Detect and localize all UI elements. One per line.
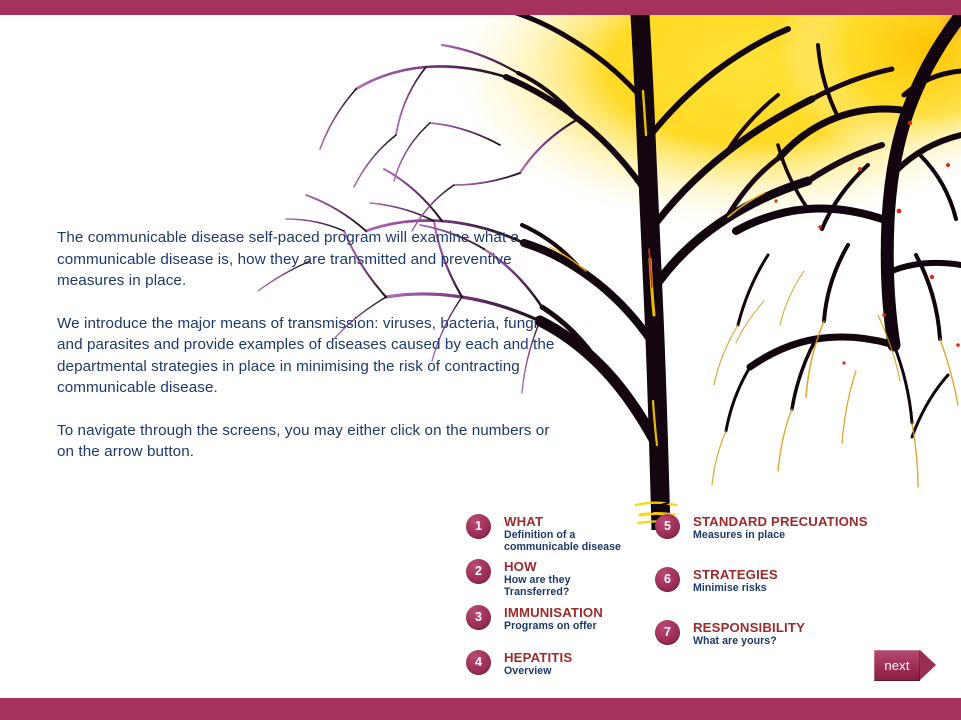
- nav-number-1[interactable]: 1: [466, 514, 491, 539]
- nav-item-hepatitis[interactable]: 4 HEPATITIS Overview: [466, 650, 666, 684]
- next-button-label: next: [874, 650, 920, 681]
- nav-sub-line: Overview: [504, 665, 666, 677]
- nav-number-6[interactable]: 6: [655, 567, 680, 592]
- nav-sub-line: Definition of a: [504, 529, 666, 541]
- intro-paragraph-1: The communicable disease self-paced prog…: [57, 227, 557, 292]
- nav-item-strategies[interactable]: 6 STRATEGIES Minimise risks: [655, 567, 915, 601]
- nav-number-2[interactable]: 2: [466, 559, 491, 584]
- intro-paragraph-3: To navigate through the screens, you may…: [57, 420, 557, 463]
- nav-number-4[interactable]: 4: [466, 650, 491, 675]
- nav-sub-standard-precautions: Measures in place: [693, 529, 915, 541]
- nav-title-immunisation: IMMUNISATION: [504, 605, 666, 620]
- nav-number-3[interactable]: 3: [466, 605, 491, 630]
- nav-sub-line: Minimise risks: [693, 582, 915, 594]
- nav-sub-immunisation: Programs on offer: [504, 620, 666, 632]
- bottom-accent-bar: [0, 698, 961, 720]
- nav-item-standard-precautions[interactable]: 5 STANDARD PRECUATIONS Measures in place: [655, 514, 915, 548]
- nav-title-strategies: STRATEGIES: [693, 567, 915, 582]
- top-accent-bar: [0, 0, 961, 15]
- nav-sub-how: How are they Transferred?: [504, 574, 666, 599]
- nav-title-responsibility: RESPONSIBILITY: [693, 620, 915, 635]
- nav-item-how[interactable]: 2 HOW How are they Transferred?: [466, 559, 666, 599]
- nav-sub-what: Definition of a communicable disease: [504, 529, 666, 554]
- slide-canvas: The communicable disease self-paced prog…: [0, 0, 961, 720]
- nav-sub-hepatitis: Overview: [504, 665, 666, 677]
- nav-sub-line: Programs on offer: [504, 620, 666, 632]
- nav-sub-responsibility: What are yours?: [693, 635, 915, 647]
- nav-number-5[interactable]: 5: [655, 514, 680, 539]
- nav-item-responsibility[interactable]: 7 RESPONSIBILITY What are yours?: [655, 620, 915, 654]
- nav-title-what: WHAT: [504, 514, 666, 529]
- nav-number-7[interactable]: 7: [655, 620, 680, 645]
- nav-sub-strategies: Minimise risks: [693, 582, 915, 594]
- nav-sub-line: Measures in place: [693, 529, 915, 541]
- nav-item-immunisation[interactable]: 3 IMMUNISATION Programs on offer: [466, 605, 666, 639]
- nav-title-standard-precautions: STANDARD PRECUATIONS: [693, 514, 915, 529]
- next-button[interactable]: next: [874, 650, 936, 681]
- nav-title-how: HOW: [504, 559, 666, 574]
- nav-item-what[interactable]: 1 WHAT Definition of a communicable dise…: [466, 514, 666, 554]
- nav-sub-line: How are they: [504, 574, 666, 586]
- nav-sub-line: What are yours?: [693, 635, 915, 647]
- nav-sub-line: Transferred?: [504, 586, 666, 598]
- intro-copy: The communicable disease self-paced prog…: [57, 227, 557, 463]
- intro-paragraph-2: We introduce the major means of transmis…: [57, 313, 557, 399]
- nav-sub-line: communicable disease: [504, 541, 666, 553]
- nav-title-hepatitis: HEPATITIS: [504, 650, 666, 665]
- arrow-right-icon: [920, 650, 936, 680]
- nav-column-left: 1 WHAT Definition of a communicable dise…: [466, 514, 666, 690]
